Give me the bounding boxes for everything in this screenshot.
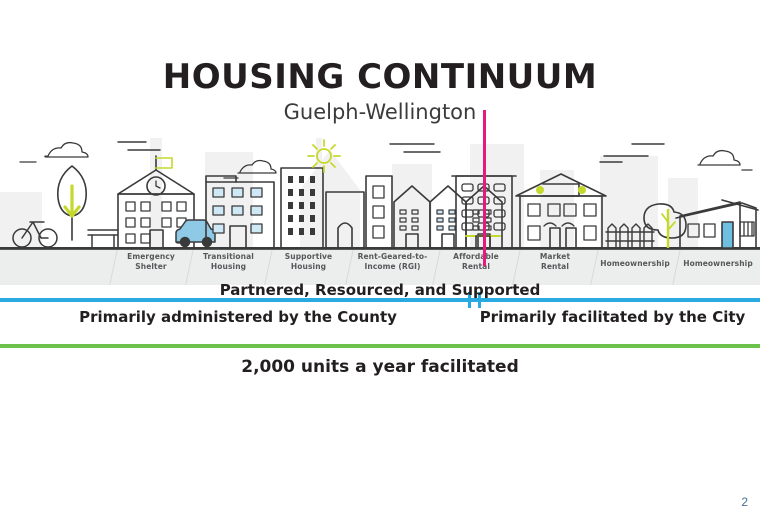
category-market-rental[interactable]: Market Rental: [516, 252, 594, 272]
cloud-left: [20, 143, 88, 162]
county-administered-label: Primarily administered by the County: [28, 308, 448, 326]
category-homeownership-2[interactable]: Homeownership: [676, 259, 760, 269]
label-band-top-rule: [0, 249, 760, 250]
category-line-1: Emergency: [113, 252, 189, 262]
category-line-2: Housing: [268, 262, 349, 272]
category-homeownership-1[interactable]: Homeownership: [594, 259, 676, 269]
green-continuum-line: [0, 344, 760, 348]
affordable-rental-marker-line: [483, 110, 486, 266]
category-line-2: Rental: [436, 262, 516, 272]
units-per-year-label: 2,000 units a year facilitated: [0, 357, 760, 377]
category-line-1: Market: [516, 252, 594, 262]
sun-icon: [308, 140, 340, 172]
page-subtitle: Guelph-Wellington: [0, 101, 760, 124]
category-affordable-rental[interactable]: Affordable Rental: [436, 252, 516, 272]
tree-arrow: [65, 186, 79, 216]
category-line-2: Housing: [189, 262, 268, 272]
partnered-resourced-supported-label: Partnered, Resourced, and Supported: [0, 281, 760, 299]
speed-lines: [118, 142, 664, 162]
category-line-2: Rental: [516, 262, 594, 272]
page-number: 2: [741, 495, 748, 509]
bench-icon: [88, 230, 118, 247]
city-facilitated-label: Primarily facilitated by the City: [470, 308, 755, 326]
category-line-1: Rent-Geared-to-: [349, 252, 436, 262]
category-line-1: Transitional: [189, 252, 268, 262]
category-transitional-housing[interactable]: Transitional Housing: [189, 252, 268, 272]
page-title: HOUSING CONTINUUM: [0, 60, 760, 96]
background-silhouettes: [0, 138, 698, 250]
category-rent-geared-to-income[interactable]: Rent-Geared-to- Income (RGI): [349, 252, 436, 272]
category-label-band: Emergency Shelter Transitional Housing S…: [0, 249, 760, 285]
category-line-1: Homeownership: [594, 259, 676, 269]
category-supportive-housing[interactable]: Supportive Housing: [268, 252, 349, 272]
category-line-1: Affordable: [436, 252, 516, 262]
category-line-1: Homeownership: [676, 259, 760, 269]
category-emergency-shelter[interactable]: Emergency Shelter: [113, 252, 189, 272]
category-line-2: Shelter: [113, 262, 189, 272]
slide-canvas: HOUSING CONTINUUM Guelph-Wellington: [0, 0, 760, 517]
housing-continuum-illustration: [0, 130, 760, 250]
title-block: HOUSING CONTINUUM Guelph-Wellington: [0, 60, 760, 124]
category-line-1: Supportive: [268, 252, 349, 262]
category-line-2: Income (RGI): [349, 262, 436, 272]
cloud-right: [698, 151, 752, 170]
